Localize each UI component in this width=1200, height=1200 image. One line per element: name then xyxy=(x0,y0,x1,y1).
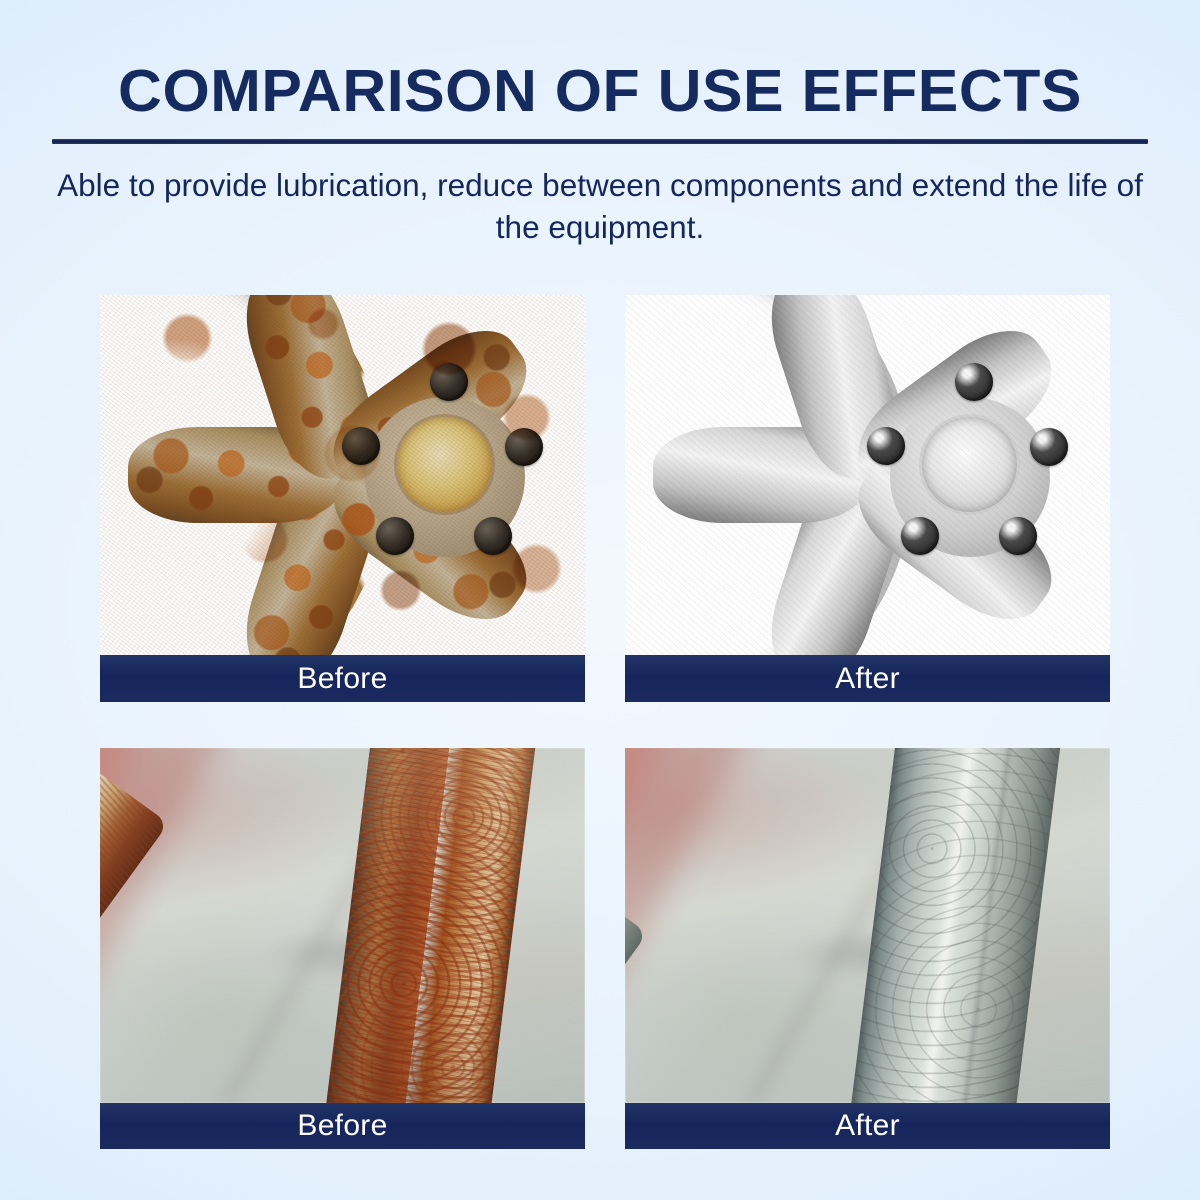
lug-nut xyxy=(342,427,380,465)
page-subtitle: Able to provide lubrication, reduce betw… xyxy=(45,165,1155,248)
pipe-stage xyxy=(625,748,1110,1103)
title-divider xyxy=(52,139,1148,144)
lug-nut xyxy=(505,428,543,466)
caption-before-wheel: Before xyxy=(100,655,585,702)
panel-wheel-before: Before xyxy=(100,295,585,702)
wheel-stage xyxy=(100,295,585,655)
lug-nut xyxy=(430,363,468,401)
comparison-row-wheel: Before xyxy=(100,295,1110,702)
panel-wheel-after: After xyxy=(625,295,1110,702)
image-rusty-wheel xyxy=(100,295,585,655)
panel-pipe-before: Before xyxy=(100,748,585,1149)
caption-before-pipe: Before xyxy=(100,1103,585,1149)
image-rusty-pipe xyxy=(100,748,585,1103)
caption-after-pipe: After xyxy=(625,1103,1110,1149)
lug-nut xyxy=(901,517,939,555)
pipe-stage xyxy=(100,748,585,1103)
wheel-center-cap xyxy=(922,417,1017,512)
page-title: COMPARISON OF USE EFFECTS xyxy=(0,62,1200,121)
wheel-stage xyxy=(625,295,1110,655)
lug-nut xyxy=(867,427,905,465)
panel-pipe-after: After xyxy=(625,748,1110,1149)
lug-nut xyxy=(474,517,512,555)
lug-nut xyxy=(999,517,1037,555)
clean-pipe-artwork xyxy=(625,748,1110,1103)
clean-wheel-artwork xyxy=(625,295,1110,655)
rusty-pipe-artwork xyxy=(100,748,585,1103)
lug-nut xyxy=(1030,428,1068,466)
page-header: COMPARISON OF USE EFFECTS Able to provid… xyxy=(0,0,1200,248)
rusty-wheel-artwork xyxy=(100,295,585,655)
image-clean-pipe xyxy=(625,748,1110,1103)
lug-nut xyxy=(955,363,993,401)
image-clean-wheel xyxy=(625,295,1110,655)
lug-nut xyxy=(376,517,414,555)
comparison-row-pipe: Before After xyxy=(100,748,1110,1149)
comparison-grid: Before xyxy=(100,295,1110,1149)
caption-after-wheel: After xyxy=(625,655,1110,702)
wheel-center-cap xyxy=(397,417,492,512)
